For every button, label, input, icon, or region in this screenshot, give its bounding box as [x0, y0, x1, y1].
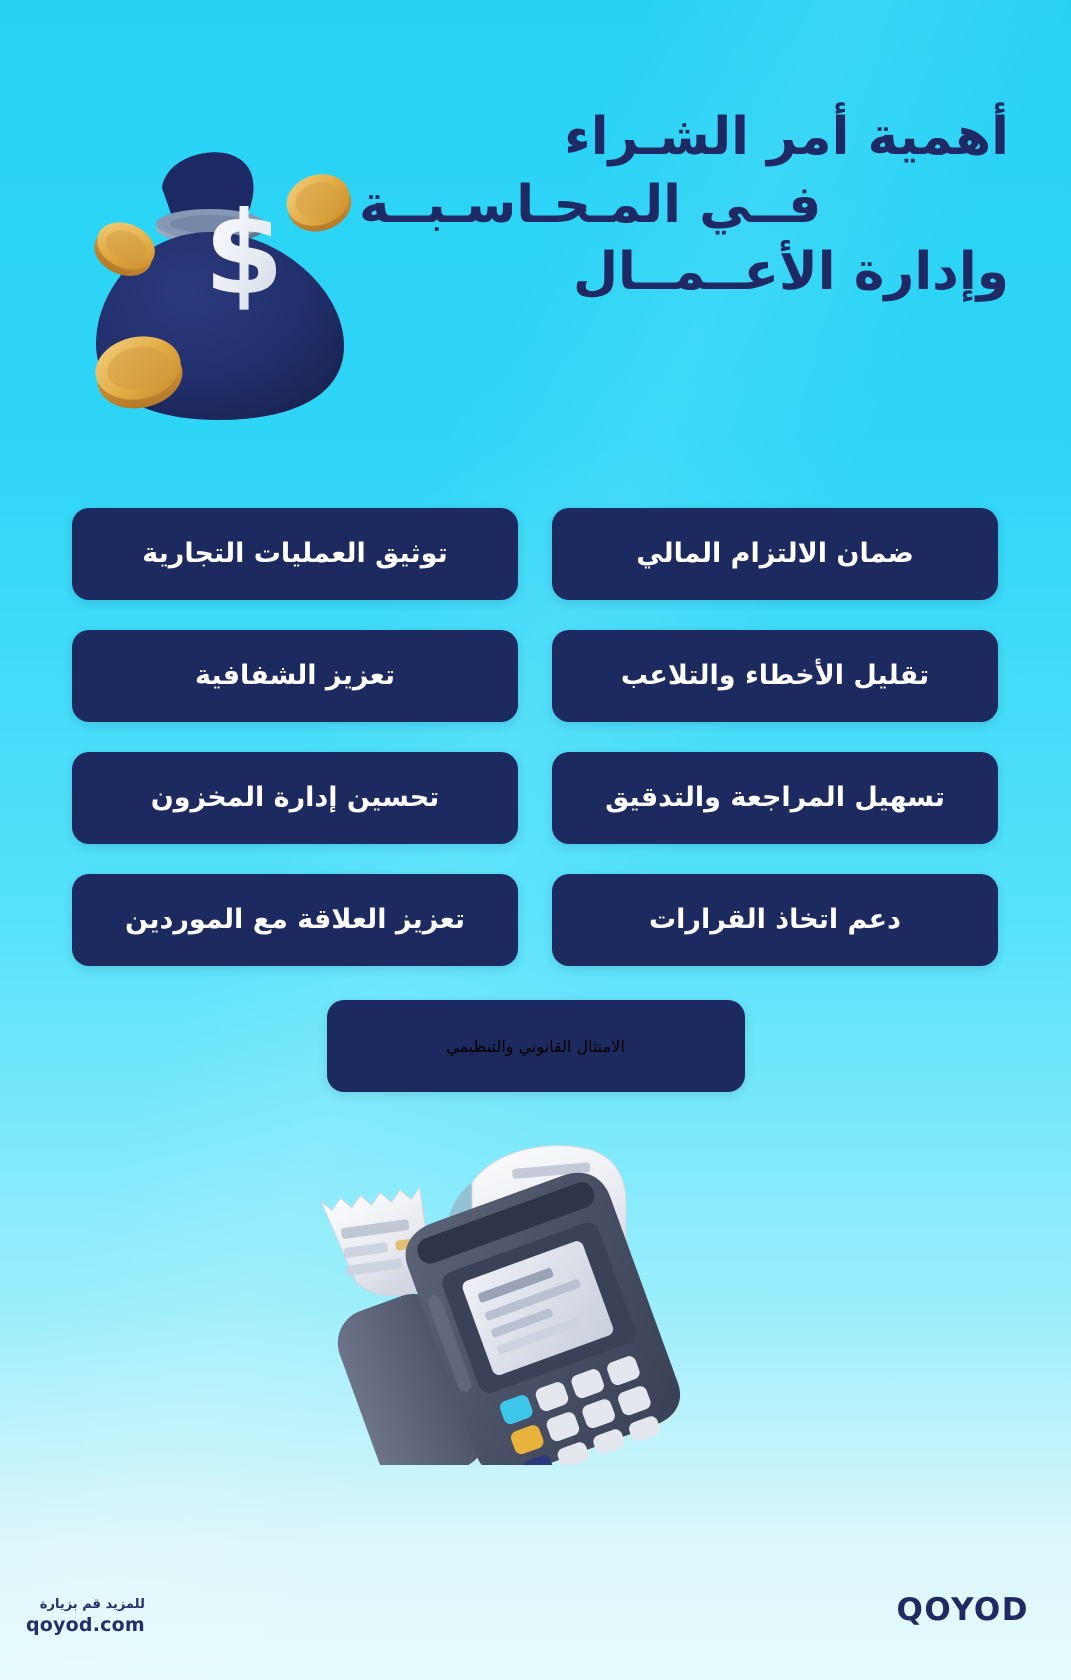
benefit-card[interactable]: تعزيز الشفافية [72, 630, 518, 722]
qoyod-logo: QOYOD [896, 1592, 1029, 1628]
benefit-card[interactable]: تحسين إدارة المخزون [72, 752, 518, 844]
benefit-card-label: تعزيز العلاقة مع الموردين [125, 903, 465, 937]
qoyod-logo-text: QOYOD [896, 1592, 1029, 1628]
benefit-card[interactable]: ضمان الالتزام المالي [552, 508, 998, 600]
pos-terminal-illustration [296, 1065, 716, 1465]
benefit-card-label: تعزيز الشفافية [195, 659, 395, 693]
money-bag-illustration: $ [66, 128, 366, 428]
benefit-card-label: تحسين إدارة المخزون [151, 781, 440, 815]
title-line-1: أهمية أمر الشـراء [359, 104, 1009, 172]
footer-cta-text: للمزيد قم بزيارة [26, 1596, 145, 1614]
pos-terminal-icon [296, 1065, 716, 1465]
benefit-card[interactable]: تسهيل المراجعة والتدقيق [552, 752, 998, 844]
benefit-card[interactable]: تعزيز العلاقة مع الموردين [72, 874, 518, 966]
infographic-poster: $ أهمية أمر الشـراء فــي المـحـاسـبــة و… [0, 0, 1071, 1680]
money-bag-icon: $ [66, 128, 366, 428]
footer-website[interactable]: qoyod.com [26, 1614, 145, 1636]
benefit-card[interactable]: دعم اتخاذ القرارات [552, 874, 998, 966]
benefit-column-left: ضمان الالتزام المالي تقليل الأخطاء والتل… [552, 508, 998, 966]
benefit-column-right: توثيق العمليات التجارية تعزيز الشفافية ت… [72, 508, 518, 966]
benefit-card-label: دعم اتخاذ القرارات [649, 903, 901, 937]
title-line-3: وإدارة الأعــمــال [359, 239, 1009, 307]
title-line-2: فــي المـحـاسـبــة [359, 172, 1009, 240]
benefit-card-label: توثيق العمليات التجارية [142, 537, 447, 571]
benefit-card-grid: توثيق العمليات التجارية تعزيز الشفافية ت… [72, 508, 999, 966]
footer-cta: للمزيد قم بزيارة qoyod.com [26, 1596, 145, 1636]
poster-title: أهمية أمر الشـراء فــي المـحـاسـبــة وإد… [359, 104, 1009, 307]
benefit-card-label: تقليل الأخطاء والتلاعب [621, 659, 929, 693]
benefit-card-label: الامتثال القانوني والتنظيمي [446, 1037, 625, 1056]
benefit-card-label: ضمان الالتزام المالي [636, 537, 914, 571]
benefit-card[interactable]: تقليل الأخطاء والتلاعب [552, 630, 998, 722]
benefit-card-label: تسهيل المراجعة والتدقيق [605, 781, 945, 815]
svg-text:$: $ [204, 187, 284, 320]
benefit-card[interactable]: توثيق العمليات التجارية [72, 508, 518, 600]
